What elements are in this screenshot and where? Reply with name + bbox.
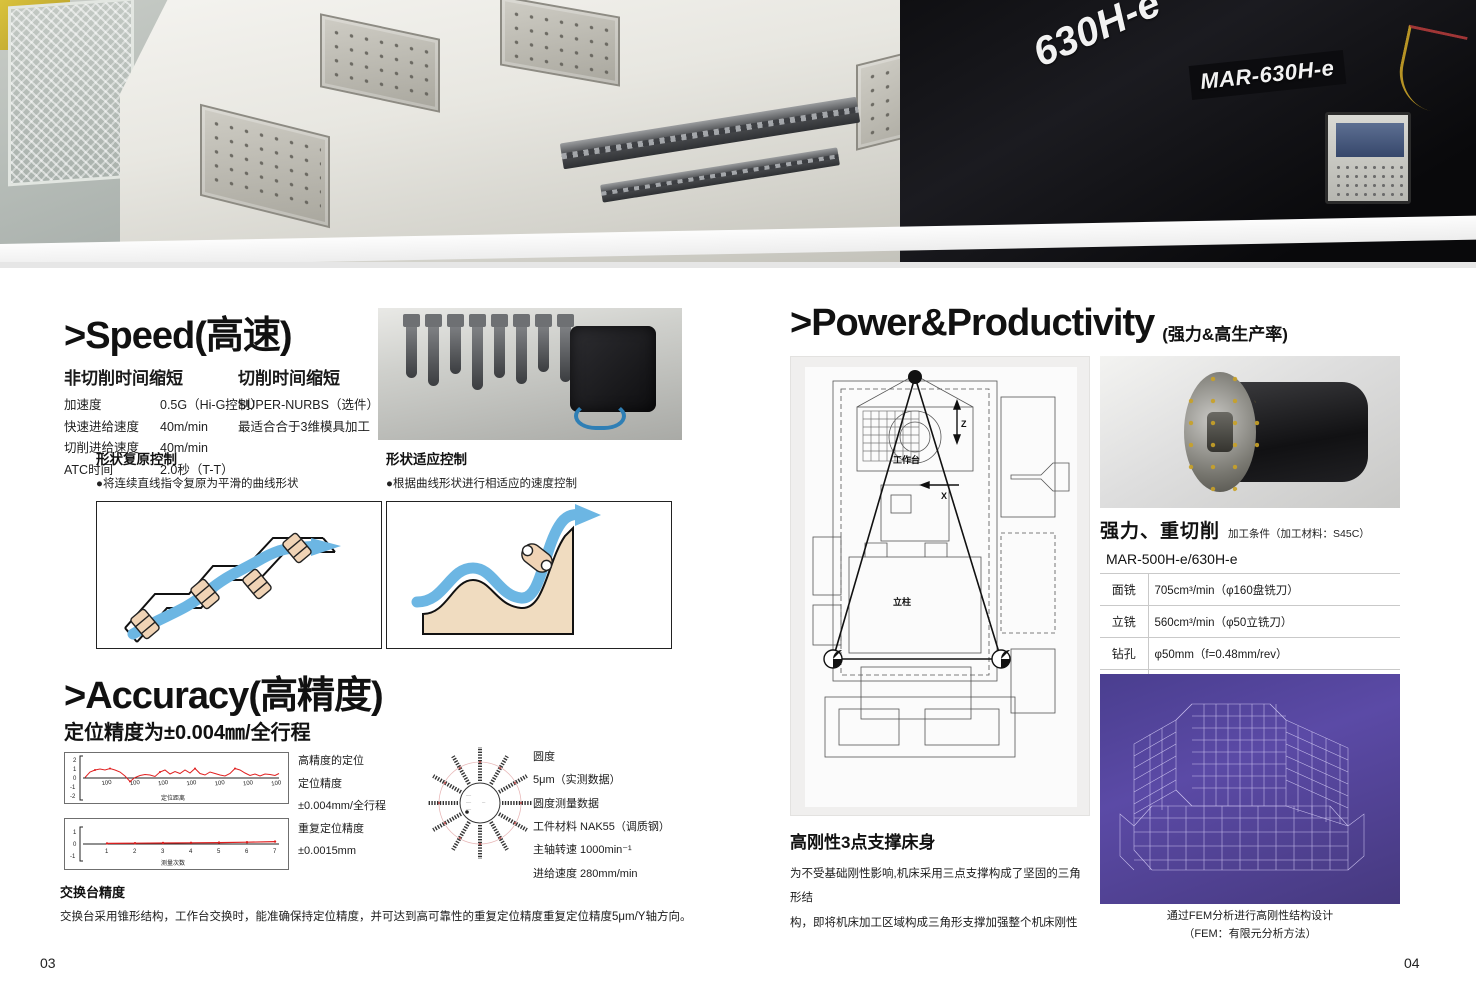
svg-text:1: 1 <box>73 767 77 773</box>
spec-row-label: 面铣 <box>1100 574 1148 606</box>
svg-text:-1: -1 <box>70 854 76 860</box>
shape-diagram-contour <box>386 501 672 649</box>
tool-holder <box>494 314 505 378</box>
spec-row-value: 560cm³/min（φ50立铣刀） <box>1148 606 1400 638</box>
power-heading: >Power&Productivity (强力&高生产率) <box>790 302 1288 345</box>
exchange-body: 交换台采用锥形结构，工作台交换时，能准确保持定位精度，并可达到高可靠性的重复定位… <box>60 908 720 926</box>
svg-text:100: 100 <box>214 780 225 787</box>
machine-cad-drawing: 工作台 立柱 Z X <box>790 356 1090 816</box>
spec-row-label: 立铣 <box>1100 606 1148 638</box>
right-page: >Power&Productivity (强力&高生产率) <box>738 276 1476 1008</box>
svg-text:100: 100 <box>186 780 197 787</box>
rigidity-line-1: 为不受基础刚性影响,机床采用三点支撑构成了坚固的三角形结 <box>790 863 1090 910</box>
svg-text:1: 1 <box>73 830 77 836</box>
tool-holder <box>516 314 527 384</box>
roundness-line: 主轴转速 1000min⁻¹ <box>533 839 723 862</box>
shape-diagram-staircase <box>96 501 382 649</box>
cutting-condition: 加工条件（加工材料：S45C） <box>1228 526 1370 541</box>
accuracy-line: 重复定位精度 <box>298 818 426 841</box>
table-row: 面铣 705cm³/min（φ160盘铣刀） <box>1100 574 1400 606</box>
svg-text:5: 5 <box>217 849 221 855</box>
spec-value: 40m/min <box>160 417 208 439</box>
rigidity-block: 高刚性3点支撑床身 为不受基础刚性影响,机床采用三点支撑构成了坚固的三角形结 构… <box>790 828 1090 936</box>
svg-text:100: 100 <box>101 780 112 787</box>
svg-text:___: ___ <box>465 799 471 803</box>
exchange-title: 交换台精度 <box>60 882 720 901</box>
speed-heading: >Speed(高速) <box>64 304 292 359</box>
shape-title: 形状适应控制 <box>386 448 672 468</box>
accuracy-text-block-1: 高精度的定位 定位精度 ±0.004mm/全行程 重复定位精度 ±0.0015m… <box>298 750 426 863</box>
power-heading-en: >Power&Productivity <box>790 302 1154 345</box>
hero-photo-band: 630H-e MAR-630H-e <box>0 0 1476 268</box>
roundness-line: 圆度测量数据 <box>533 793 723 816</box>
svg-text:-1: -1 <box>70 785 76 791</box>
cutting-spec-header: 强力、重切削 加工条件（加工材料：S45C） <box>1100 516 1400 543</box>
safety-mesh-panel <box>8 0 134 186</box>
shape-adaptive-control: 形状适应控制 ●根据曲线形状进行相适应的速度控制 <box>386 448 672 649</box>
svg-text:3: 3 <box>161 849 165 855</box>
spread-body: >Speed(高速) 非切削时间缩短 加速度 0.5G（Hi-G控制） 快速进给… <box>0 276 1476 1008</box>
spec-key: 快速进给速度 <box>64 417 160 439</box>
svg-text:__: __ <box>481 799 486 803</box>
tool-holder <box>450 314 461 374</box>
fem-analysis-image <box>1100 674 1400 904</box>
cad-label-worktable: 工作台 <box>893 454 920 465</box>
svg-text:7: 7 <box>273 849 277 855</box>
cutting-spec-title: 强力、重切削 <box>1100 516 1220 543</box>
speed-heading-en: >Speed <box>64 315 194 357</box>
accuracy-line: 定位精度 <box>298 773 426 796</box>
cad-axis-x: X <box>941 491 947 501</box>
svg-text:-2: -2 <box>70 794 76 800</box>
accuracy-heading: >Accuracy(高精度) <box>64 664 383 719</box>
repeatability-chart: 10-1 123 456 7 测量次数 <box>64 818 289 870</box>
blue-coolant-hose <box>574 402 626 430</box>
cad-canvas: 工作台 立柱 Z X <box>805 367 1077 807</box>
spec-row-value: 705cm³/min（φ160盘铣刀） <box>1148 574 1400 606</box>
svg-text:0: 0 <box>73 776 77 782</box>
svg-text:100: 100 <box>271 780 282 787</box>
cad-axis-z: Z <box>961 419 967 429</box>
svg-text:0: 0 <box>73 842 77 848</box>
svg-text:6: 6 <box>245 849 249 855</box>
spindle-unit-photo <box>1100 356 1400 508</box>
accuracy-line: ±0.0015mm <box>298 840 426 863</box>
accuracy-heading-en: >Accuracy <box>64 675 248 717</box>
svg-text:___: ___ <box>465 806 471 810</box>
spec-row-value: φ50mm（f=0.48mm/rev） <box>1148 638 1400 670</box>
atc-tool-magazine-photo <box>378 308 682 440</box>
svg-text:100: 100 <box>243 780 254 787</box>
fem-caption: 通过FEM分析进行高刚性结构设计 （FEM：有限元分析方法） <box>1100 908 1400 943</box>
roundness-line: 工件材料 NAK55（调质钢） <box>533 816 723 839</box>
rigidity-title: 高刚性3点支撑床身 <box>790 828 1090 853</box>
shape-restore-control: 形状复原控制 ●将连续直线指令复原为平滑的曲线形状 <box>96 448 382 649</box>
exchange-accuracy-block: 交换台精度 交换台采用锥形结构，工作台交换时，能准确保持定位精度，并可达到高可靠… <box>60 882 720 926</box>
svg-text:4: 4 <box>189 849 193 855</box>
left-page: >Speed(高速) 非切削时间缩短 加速度 0.5G（Hi-G控制） 快速进给… <box>0 276 738 1008</box>
accuracy-heading-cjk: (高精度) <box>248 675 382 717</box>
roundness-line: 5μm（实测数据） <box>533 769 723 792</box>
tool-holder <box>538 314 549 372</box>
tool-holder <box>428 314 439 386</box>
roundness-line: 圆度 <box>533 746 723 769</box>
svg-text:1: 1 <box>105 849 109 855</box>
chart1-xlabel: 定位距离 <box>161 794 185 802</box>
svg-text:2: 2 <box>133 849 137 855</box>
table-row: 立铣 560cm³/min（φ50立铣刀） <box>1100 606 1400 638</box>
accuracy-subtitle: 定位精度为±0.004㎜/全行程 <box>64 716 311 745</box>
svg-text:2: 2 <box>73 758 77 764</box>
fem-caption-line-1: 通过FEM分析进行高刚性结构设计 <box>1100 908 1400 926</box>
cnc-control-panel <box>1325 112 1411 204</box>
shape-bullet: ●将连续直线指令复原为平滑的曲线形状 <box>96 475 382 491</box>
speed-heading-cjk: (高速) <box>194 315 291 357</box>
power-heading-cjk: (强力&高生产率) <box>1162 320 1288 345</box>
page-number-left: 03 <box>40 955 56 971</box>
tool-holder <box>406 314 417 378</box>
accuracy-line: 高精度的定位 <box>298 750 426 773</box>
roundness-polar-chart: ______ _____ <box>428 744 532 862</box>
shape-bullet: ●根据曲线形状进行相适应的速度控制 <box>386 475 672 491</box>
chart2-xlabel: 测量次数 <box>161 859 185 867</box>
model-name: MAR-500H-e/630H-e <box>1106 551 1400 567</box>
cnc-keypad <box>1334 163 1406 199</box>
shape-title: 形状复原控制 <box>96 448 382 468</box>
fem-caption-line-2: （FEM：有限元分析方法） <box>1100 926 1400 944</box>
accuracy-line: ±0.004mm/全行程 <box>298 795 426 818</box>
tool-holder <box>472 314 483 390</box>
photo-bottom-gray-band <box>0 262 1476 268</box>
spindle-motor-housing <box>570 326 656 412</box>
spec-row-label: 钻孔 <box>1100 638 1148 670</box>
svg-text:___: ___ <box>465 792 471 796</box>
rigidity-line-2: 构，即将机床加工区域构成三角形支撑加强整个机床刚性 <box>790 912 1090 936</box>
cad-label-column: 立柱 <box>893 596 911 607</box>
tool-holder-row <box>406 314 596 414</box>
table-row: 钻孔 φ50mm（f=0.48mm/rev） <box>1100 638 1400 670</box>
svg-text:100: 100 <box>158 780 169 787</box>
page-number-right: 04 <box>1404 955 1420 971</box>
flange-bolts <box>1180 368 1260 496</box>
cnc-screen <box>1336 123 1404 157</box>
positioning-accuracy-chart: 210 -1-2 100100100 100100100 100 定位距离 <box>64 752 289 804</box>
accuracy-text-block-2: 圆度 5μm（实测数据） 圆度测量数据 工件材料 NAK55（调质钢） 主轴转速… <box>533 746 723 886</box>
spec-key: 加速度 <box>64 395 160 417</box>
